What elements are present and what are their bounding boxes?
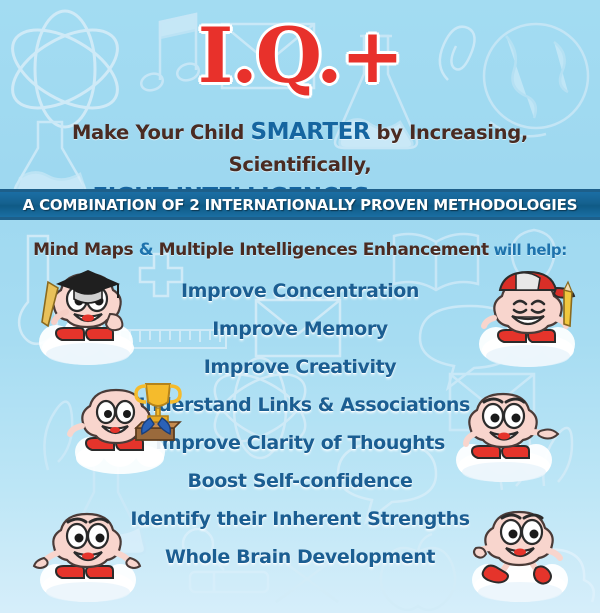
tagline-line-1: Make Your Child SMARTER by Increasing, S…: [0, 116, 600, 181]
benefit-item: Improve Memory: [212, 310, 388, 348]
tagline-line-1-pre: Make Your Child: [72, 121, 251, 144]
benefit-item: Boost Self-confidence: [188, 462, 413, 500]
pointing-brain-mascot: [448, 382, 572, 486]
poster-header: I.Q.+ Make Your Child SMARTER by Increas…: [0, 0, 600, 186]
benefit-item: Improve Clarity of Thoughts: [155, 424, 445, 462]
subheading: Mind Maps & Multiple Intelligences Enhan…: [0, 240, 600, 260]
subheading-ampersand: &: [139, 240, 153, 260]
benefit-item: Improve Concentration: [181, 272, 419, 310]
trophy-brain-mascot: [62, 372, 188, 478]
iq-plus-poster: I.Q.+ Make Your Child SMARTER by Increas…: [0, 0, 600, 613]
benefit-item: Identify their Inherent Strengths: [130, 500, 469, 538]
walking-brain-mascot: [458, 498, 584, 606]
benefit-item: Whole Brain Development: [165, 538, 435, 576]
methodology-banner-text: A COMBINATION OF 2 INTERNATIONALLY PROVE…: [23, 196, 578, 214]
subheading-tail: will help:: [489, 241, 567, 259]
tagline-highlight-smarter: SMARTER: [251, 119, 371, 145]
capped-brain-mascot: [470, 266, 590, 372]
subheading-pre: Mind Maps: [33, 240, 139, 260]
benefit-item: Improve Creativity: [204, 348, 397, 386]
brand-logo: I.Q.+: [0, 14, 600, 98]
subheading-mid: Multiple Intelligences Enhancement: [153, 240, 489, 260]
graduate-brain-mascot: [22, 262, 148, 370]
methodology-banner: A COMBINATION OF 2 INTERNATIONALLY PROVE…: [0, 189, 600, 220]
brand-logo-text: I.Q.+: [198, 11, 403, 100]
waving-brain-mascot: [26, 500, 152, 606]
